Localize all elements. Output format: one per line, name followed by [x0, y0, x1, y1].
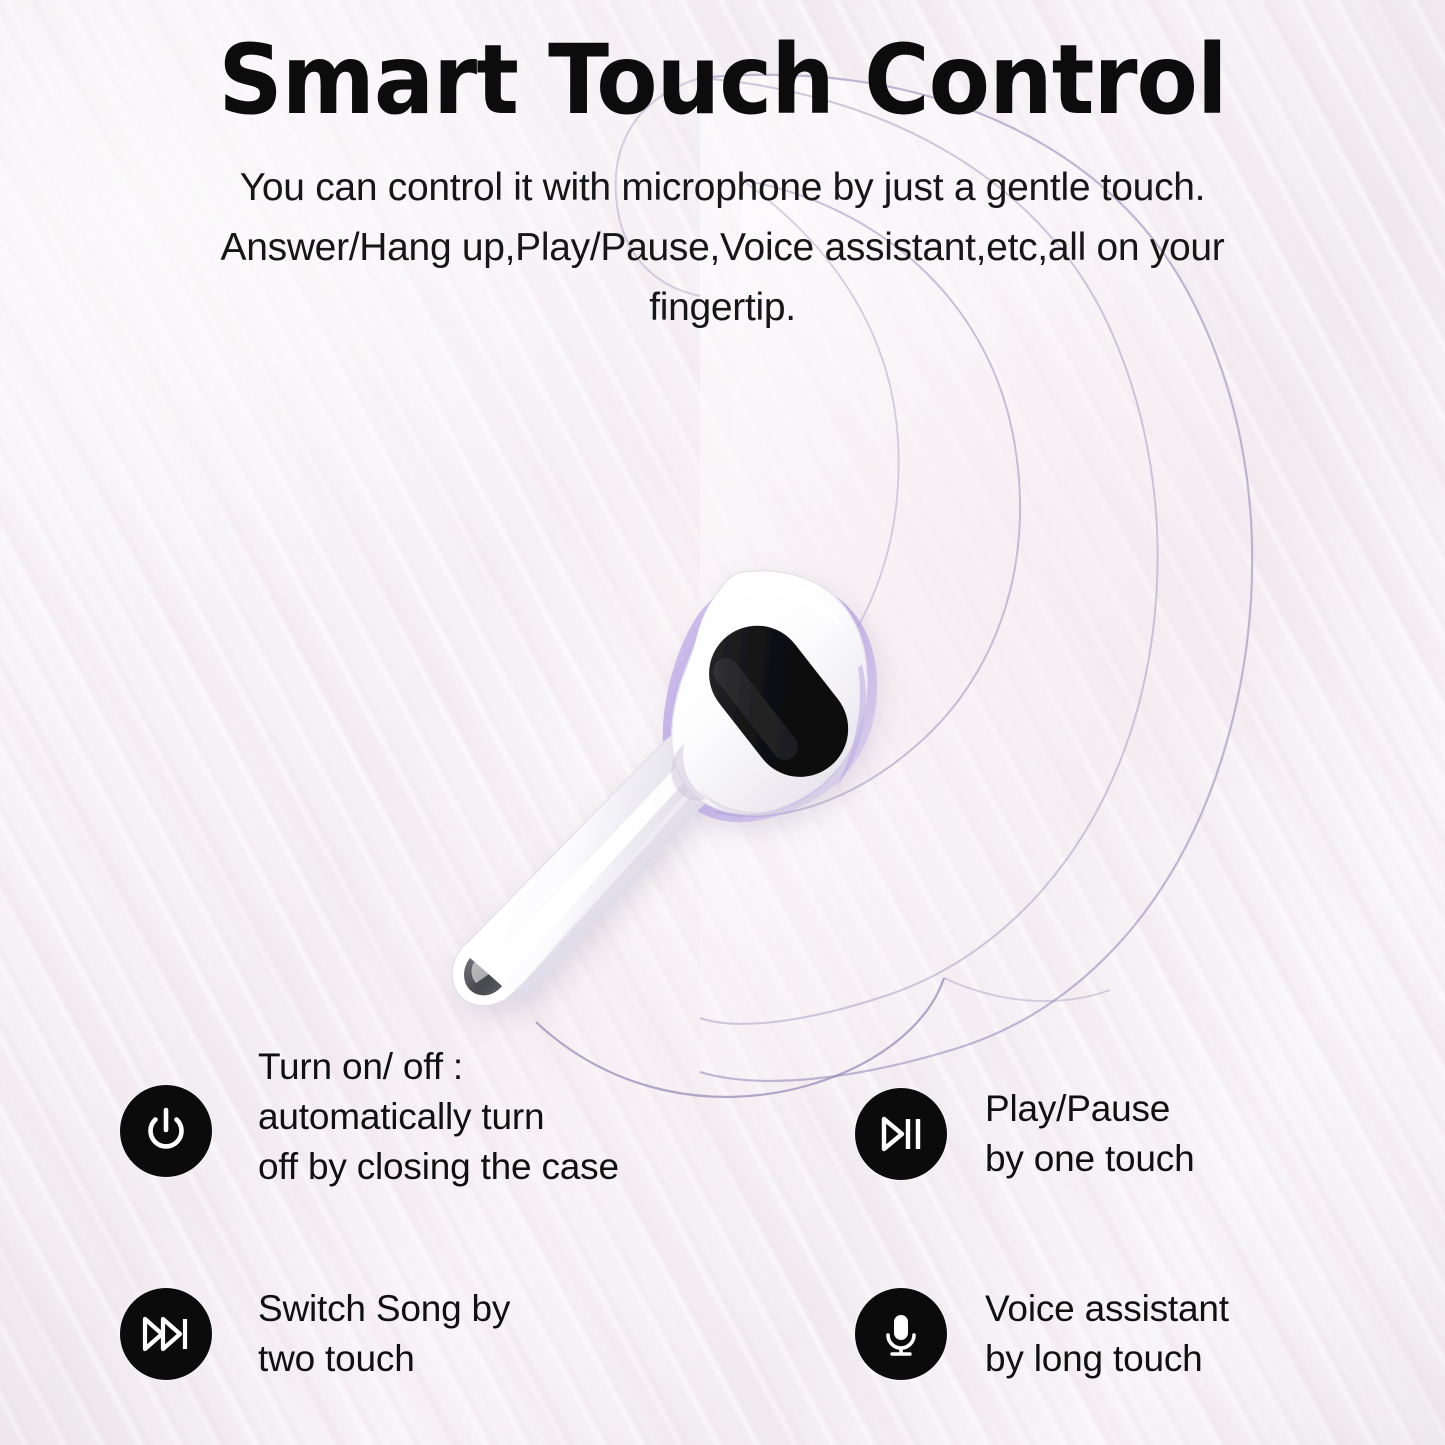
feature-play-pause: Play/Pause by one touch — [855, 1088, 1194, 1184]
microphone-icon-badge — [855, 1288, 947, 1380]
feature-switch-song-line-1: Switch Song by — [258, 1284, 510, 1334]
subtitle-line-1: You can control it with microphone by ju… — [110, 158, 1335, 218]
feature-power-text: Turn on/ off : automatically turn off by… — [258, 1042, 619, 1192]
feature-voice-assistant: Voice assistant by long touch — [855, 1288, 1229, 1384]
feature-power-line-1: Turn on/ off : — [258, 1042, 619, 1092]
skip-forward-icon — [138, 1306, 194, 1362]
feature-play-pause-line-2: by one touch — [985, 1134, 1194, 1184]
feature-play-pause-line-1: Play/Pause — [985, 1084, 1194, 1134]
power-icon-badge — [120, 1085, 212, 1177]
product-feature-slide: Smart Touch Control You can control it w… — [0, 0, 1445, 1445]
subtitle-line-2: Answer/Hang up,Play/Pause,Voice assistan… — [110, 218, 1335, 278]
feature-play-pause-text: Play/Pause by one touch — [985, 1084, 1194, 1184]
feature-power: Turn on/ off : automatically turn off by… — [120, 1042, 619, 1192]
feature-power-line-2: automatically turn — [258, 1092, 619, 1142]
feature-voice-assistant-line-1: Voice assistant — [985, 1284, 1229, 1334]
feature-voice-assistant-text: Voice assistant by long touch — [985, 1284, 1229, 1384]
subtitle-line-3: fingertip. — [110, 278, 1335, 338]
play-pause-icon — [874, 1107, 928, 1161]
page-title: Smart Touch Control — [51, 24, 1395, 136]
skip-forward-icon-badge — [120, 1288, 212, 1380]
feature-switch-song: Switch Song by two touch — [120, 1288, 510, 1384]
feature-power-line-3: off by closing the case — [258, 1142, 619, 1192]
feature-voice-assistant-line-2: by long touch — [985, 1334, 1229, 1384]
feature-switch-song-line-2: two touch — [258, 1334, 510, 1384]
feature-switch-song-text: Switch Song by two touch — [258, 1284, 510, 1384]
play-pause-icon-badge — [855, 1088, 947, 1180]
page-subtitle: You can control it with microphone by ju… — [110, 158, 1335, 338]
power-icon — [138, 1103, 194, 1159]
microphone-icon — [874, 1307, 928, 1361]
